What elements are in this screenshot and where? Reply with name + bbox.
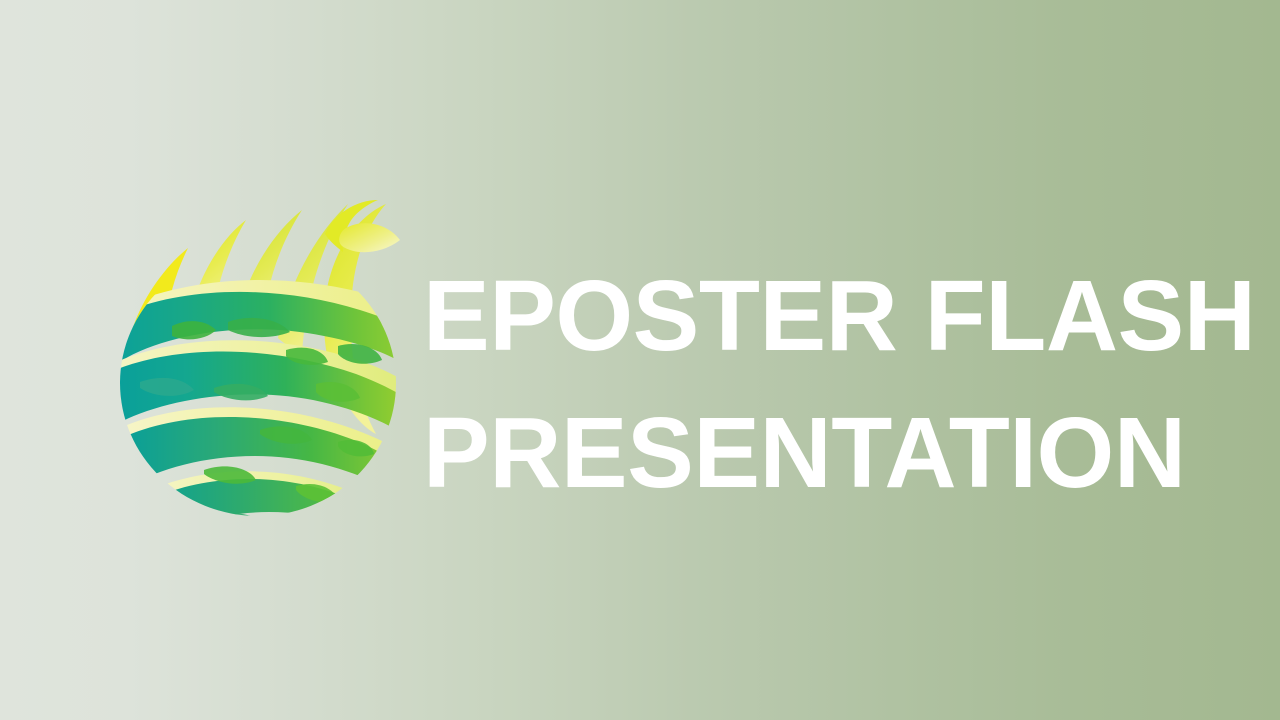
- logo-ribbon-bands: [110, 280, 410, 518]
- slide-title: EPOSTER FLASH PRESENTATION: [423, 248, 1223, 522]
- title-slide: EPOSTER FLASH PRESENTATION: [0, 0, 1280, 720]
- globe-ribbon-logo-svg: [110, 198, 410, 518]
- leaf-icon: [339, 223, 400, 252]
- title-line-1: EPOSTER FLASH: [423, 248, 1223, 385]
- globe-ribbon-logo: [110, 198, 410, 518]
- title-line-2: PRESENTATION: [423, 385, 1223, 522]
- ribbon-band-4: [158, 479, 410, 518]
